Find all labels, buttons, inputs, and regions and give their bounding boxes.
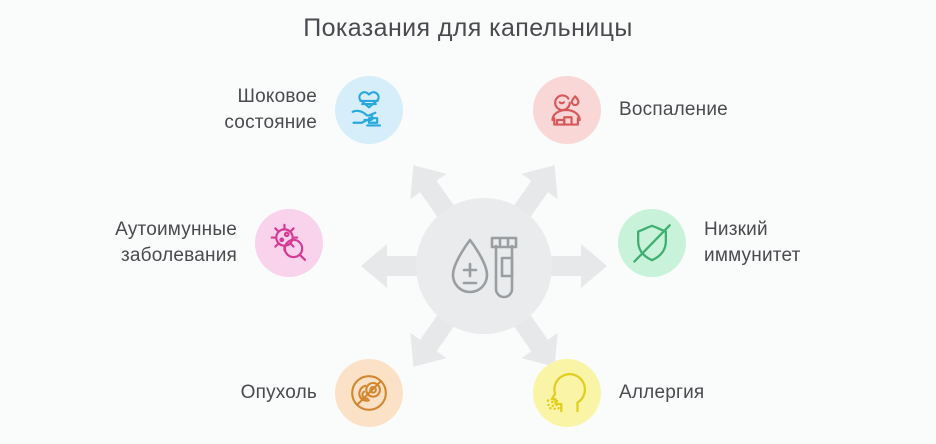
item-allergy-badge[interactable] xyxy=(533,359,601,427)
blood-drop-test-tube-icon xyxy=(447,230,521,304)
item-low-immunity[interactable]: Низкий иммунитет xyxy=(618,209,903,277)
item-tumor-label: Опухоль xyxy=(241,380,317,406)
item-low-immunity-label: Низкий иммунитет xyxy=(704,217,801,269)
item-allergy-label: Аллергия xyxy=(619,380,704,406)
item-inflammation[interactable]: Воспаление xyxy=(533,76,818,144)
crossed-tumor-cell-icon xyxy=(349,373,389,413)
item-autoimmune-label: Аутоимунные заболевания xyxy=(115,217,237,269)
page-title: Показания для капельницы xyxy=(0,14,936,43)
item-inflammation-label: Воспаление xyxy=(619,97,728,123)
item-tumor[interactable]: Опухоль xyxy=(118,359,403,427)
item-tumor-badge[interactable] xyxy=(335,359,403,427)
person-fever-bed-icon xyxy=(547,90,587,130)
infographic-canvas: Показания для капельницы xyxy=(0,0,936,444)
item-inflammation-badge[interactable] xyxy=(533,76,601,144)
sneezing-head-icon xyxy=(546,372,588,414)
item-allergy[interactable]: Аллергия xyxy=(533,359,818,427)
item-low-immunity-badge[interactable] xyxy=(618,209,686,277)
item-shock-badge[interactable] xyxy=(335,76,403,144)
virus-magnifier-icon xyxy=(269,223,309,263)
item-shock[interactable]: Шоковое состояние xyxy=(118,76,403,144)
item-autoimmune-badge[interactable] xyxy=(255,209,323,277)
item-shock-label: Шоковое состояние xyxy=(224,84,317,136)
item-autoimmune[interactable]: Аутоимунные заболевания xyxy=(38,209,323,277)
heart-in-hand-icon xyxy=(349,90,389,130)
crossed-shield-icon xyxy=(631,222,673,264)
